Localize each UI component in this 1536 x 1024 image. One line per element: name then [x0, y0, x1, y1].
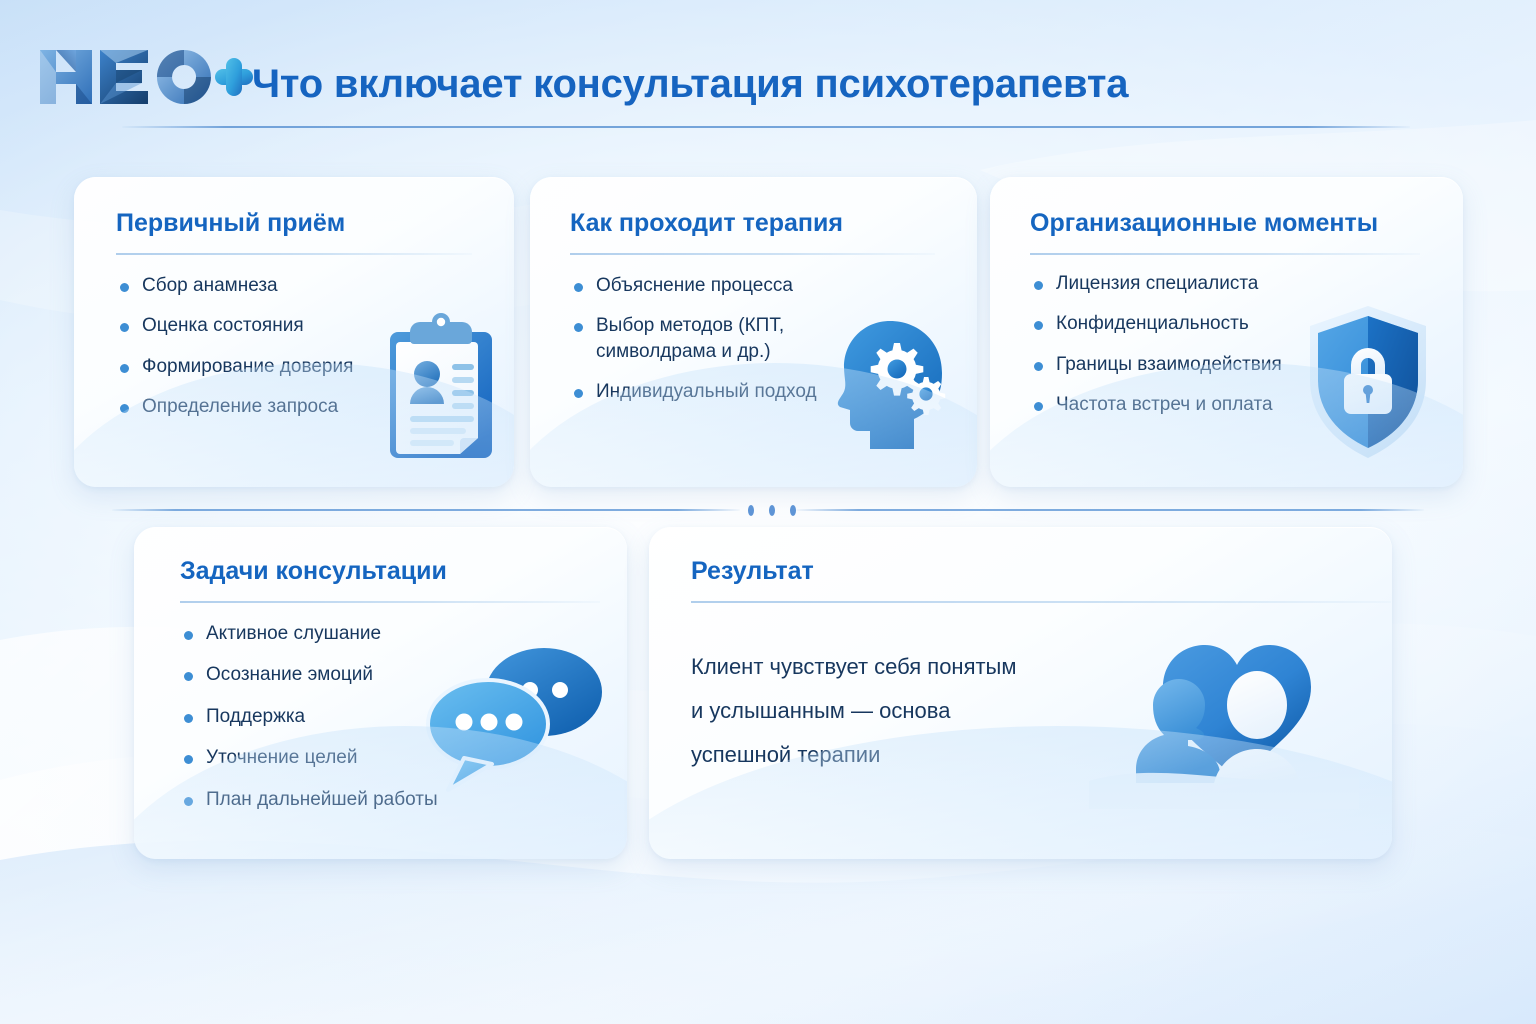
result-line: и услышанным — основа	[691, 689, 1111, 733]
card-org-bullets: Лицензия специалиста Конфиденциальность …	[1030, 271, 1340, 418]
head-gears-icon	[832, 317, 962, 452]
section-divider	[112, 502, 1424, 518]
card-intake-bullets: Сбор анамнеза Оценка состояния Формирова…	[116, 273, 421, 420]
list-item: Уточнение целей	[180, 745, 510, 770]
list-item: План дальнейшей работы	[180, 787, 510, 812]
card-result-title: Результат	[691, 557, 814, 586]
list-item: Выбор методов (КПТ, символдрама и др.)	[570, 313, 845, 364]
card-therapy-title: Как проходит терапия	[570, 209, 843, 238]
card-intake-title: Первичный приём	[116, 209, 345, 238]
card-org-rule	[1030, 253, 1420, 255]
list-item: Поддержка	[180, 704, 510, 729]
card-result[interactable]: Результат Клиент чувствует себя понятым …	[649, 527, 1392, 859]
three-dots-divider	[748, 502, 796, 518]
result-line: Клиент чувствует себя понятым	[691, 645, 1111, 689]
list-item: Частота встреч и оплата	[1030, 392, 1340, 417]
list-item: Объяснение процесса	[570, 273, 845, 298]
list-item: Активное слушание	[180, 621, 510, 646]
card-org-title: Организационные моменты	[1030, 209, 1378, 238]
divider-line-left	[112, 509, 740, 511]
header-divider	[122, 126, 1410, 128]
list-item: Определение запроса	[116, 394, 421, 419]
page-header: Что включает консультация психотерапевта	[0, 0, 1536, 140]
card-result-rule	[691, 601, 1391, 603]
divider-dot	[748, 505, 754, 516]
infographic-canvas: Что включает консультация психотерапевта…	[0, 0, 1536, 1024]
list-item: Осознание эмоций	[180, 662, 510, 687]
list-item: Границы взаимодействия	[1030, 352, 1340, 377]
list-item: Оценка состояния	[116, 313, 421, 338]
card-therapy-bullets: Объяснение процесса Выбор методов (КПТ, …	[570, 273, 845, 405]
card-tasks-rule	[180, 601, 600, 603]
divider-dot	[769, 505, 775, 516]
card-tasks-bullets: Активное слушание Осознание эмоций Подде…	[180, 621, 510, 812]
list-item: Сбор анамнеза	[116, 273, 421, 298]
list-item: Формирование доверия	[116, 354, 421, 379]
list-item: Лицензия специалиста	[1030, 271, 1340, 296]
card-intake[interactable]: Первичный приём Сбор анамнеза Оценка сос…	[74, 177, 514, 487]
heart-people-icon	[1089, 609, 1359, 809]
card-therapy[interactable]: Как проходит терапия Объяснение процесса…	[530, 177, 977, 487]
card-tasks-title: Задачи консультации	[180, 557, 447, 586]
card-intake-rule	[116, 253, 472, 255]
card-therapy-rule	[570, 253, 935, 255]
divider-line-right	[796, 509, 1424, 511]
page-title: Что включает консультация психотерапевта	[252, 62, 1128, 107]
card-tasks[interactable]: Задачи консультации Активное слушание Ос…	[134, 527, 627, 859]
list-item: Конфиденциальность	[1030, 311, 1340, 336]
list-item: Индивидуальный подход	[570, 379, 845, 404]
card-result-body: Клиент чувствует себя понятым и услышанн…	[691, 645, 1111, 777]
card-org[interactable]: Организационные моменты Лицензия специал…	[990, 177, 1463, 487]
result-line: успешной терапии	[691, 733, 1111, 777]
neo-plus-logo	[38, 44, 253, 110]
